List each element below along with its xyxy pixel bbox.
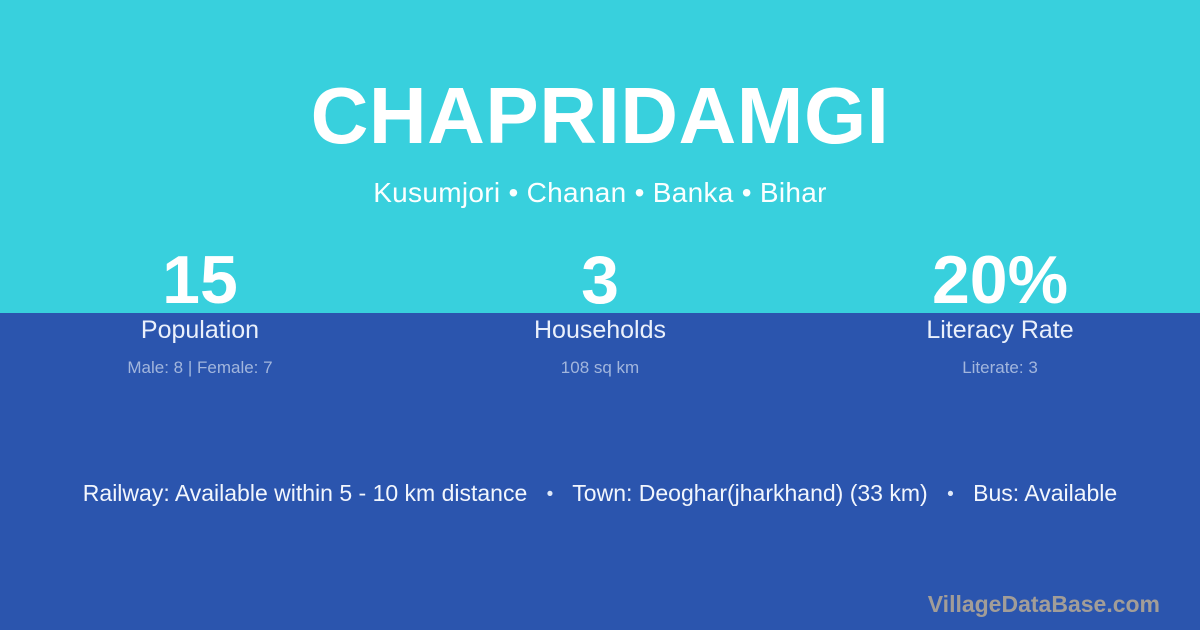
info-bus: Bus: Available xyxy=(973,480,1117,506)
amenities-info-strip: Railway: Available within 5 - 10 km dist… xyxy=(0,482,1200,505)
stat-label: Population xyxy=(0,318,400,343)
info-railway: Railway: Available within 5 - 10 km dist… xyxy=(83,480,527,506)
stat-sublabel: Literate: 3 xyxy=(800,359,1200,376)
bullet-separator-icon: • xyxy=(934,485,967,504)
stat-value: 20% xyxy=(800,246,1200,308)
brand-watermark: VillageDataBase.com xyxy=(928,593,1160,616)
stat-label: Households xyxy=(400,318,800,343)
page-title: CHAPRIDAMGI xyxy=(0,76,1200,156)
bullet-separator-icon: • xyxy=(534,485,567,504)
village-info-card: CHAPRIDAMGI Kusumjori • Chanan • Banka •… xyxy=(0,0,1200,630)
stats-row: 15 Population Male: 8 | Female: 7 3 Hous… xyxy=(0,246,1200,376)
info-town: Town: Deoghar(jharkhand) (33 km) xyxy=(572,480,927,506)
stat-label: Literacy Rate xyxy=(800,318,1200,343)
card-header: CHAPRIDAMGI Kusumjori • Chanan • Banka •… xyxy=(0,0,1200,207)
stat-value: 15 xyxy=(0,246,400,308)
stat-households: 3 Households 108 sq km xyxy=(400,246,800,376)
stat-value: 3 xyxy=(400,246,800,308)
breadcrumb: Kusumjori • Chanan • Banka • Bihar xyxy=(0,179,1200,207)
stat-sublabel: Male: 8 | Female: 7 xyxy=(0,359,400,376)
stat-sublabel: 108 sq km xyxy=(400,359,800,376)
stat-literacy-rate: 20% Literacy Rate Literate: 3 xyxy=(800,246,1200,376)
stat-population: 15 Population Male: 8 | Female: 7 xyxy=(0,246,400,376)
